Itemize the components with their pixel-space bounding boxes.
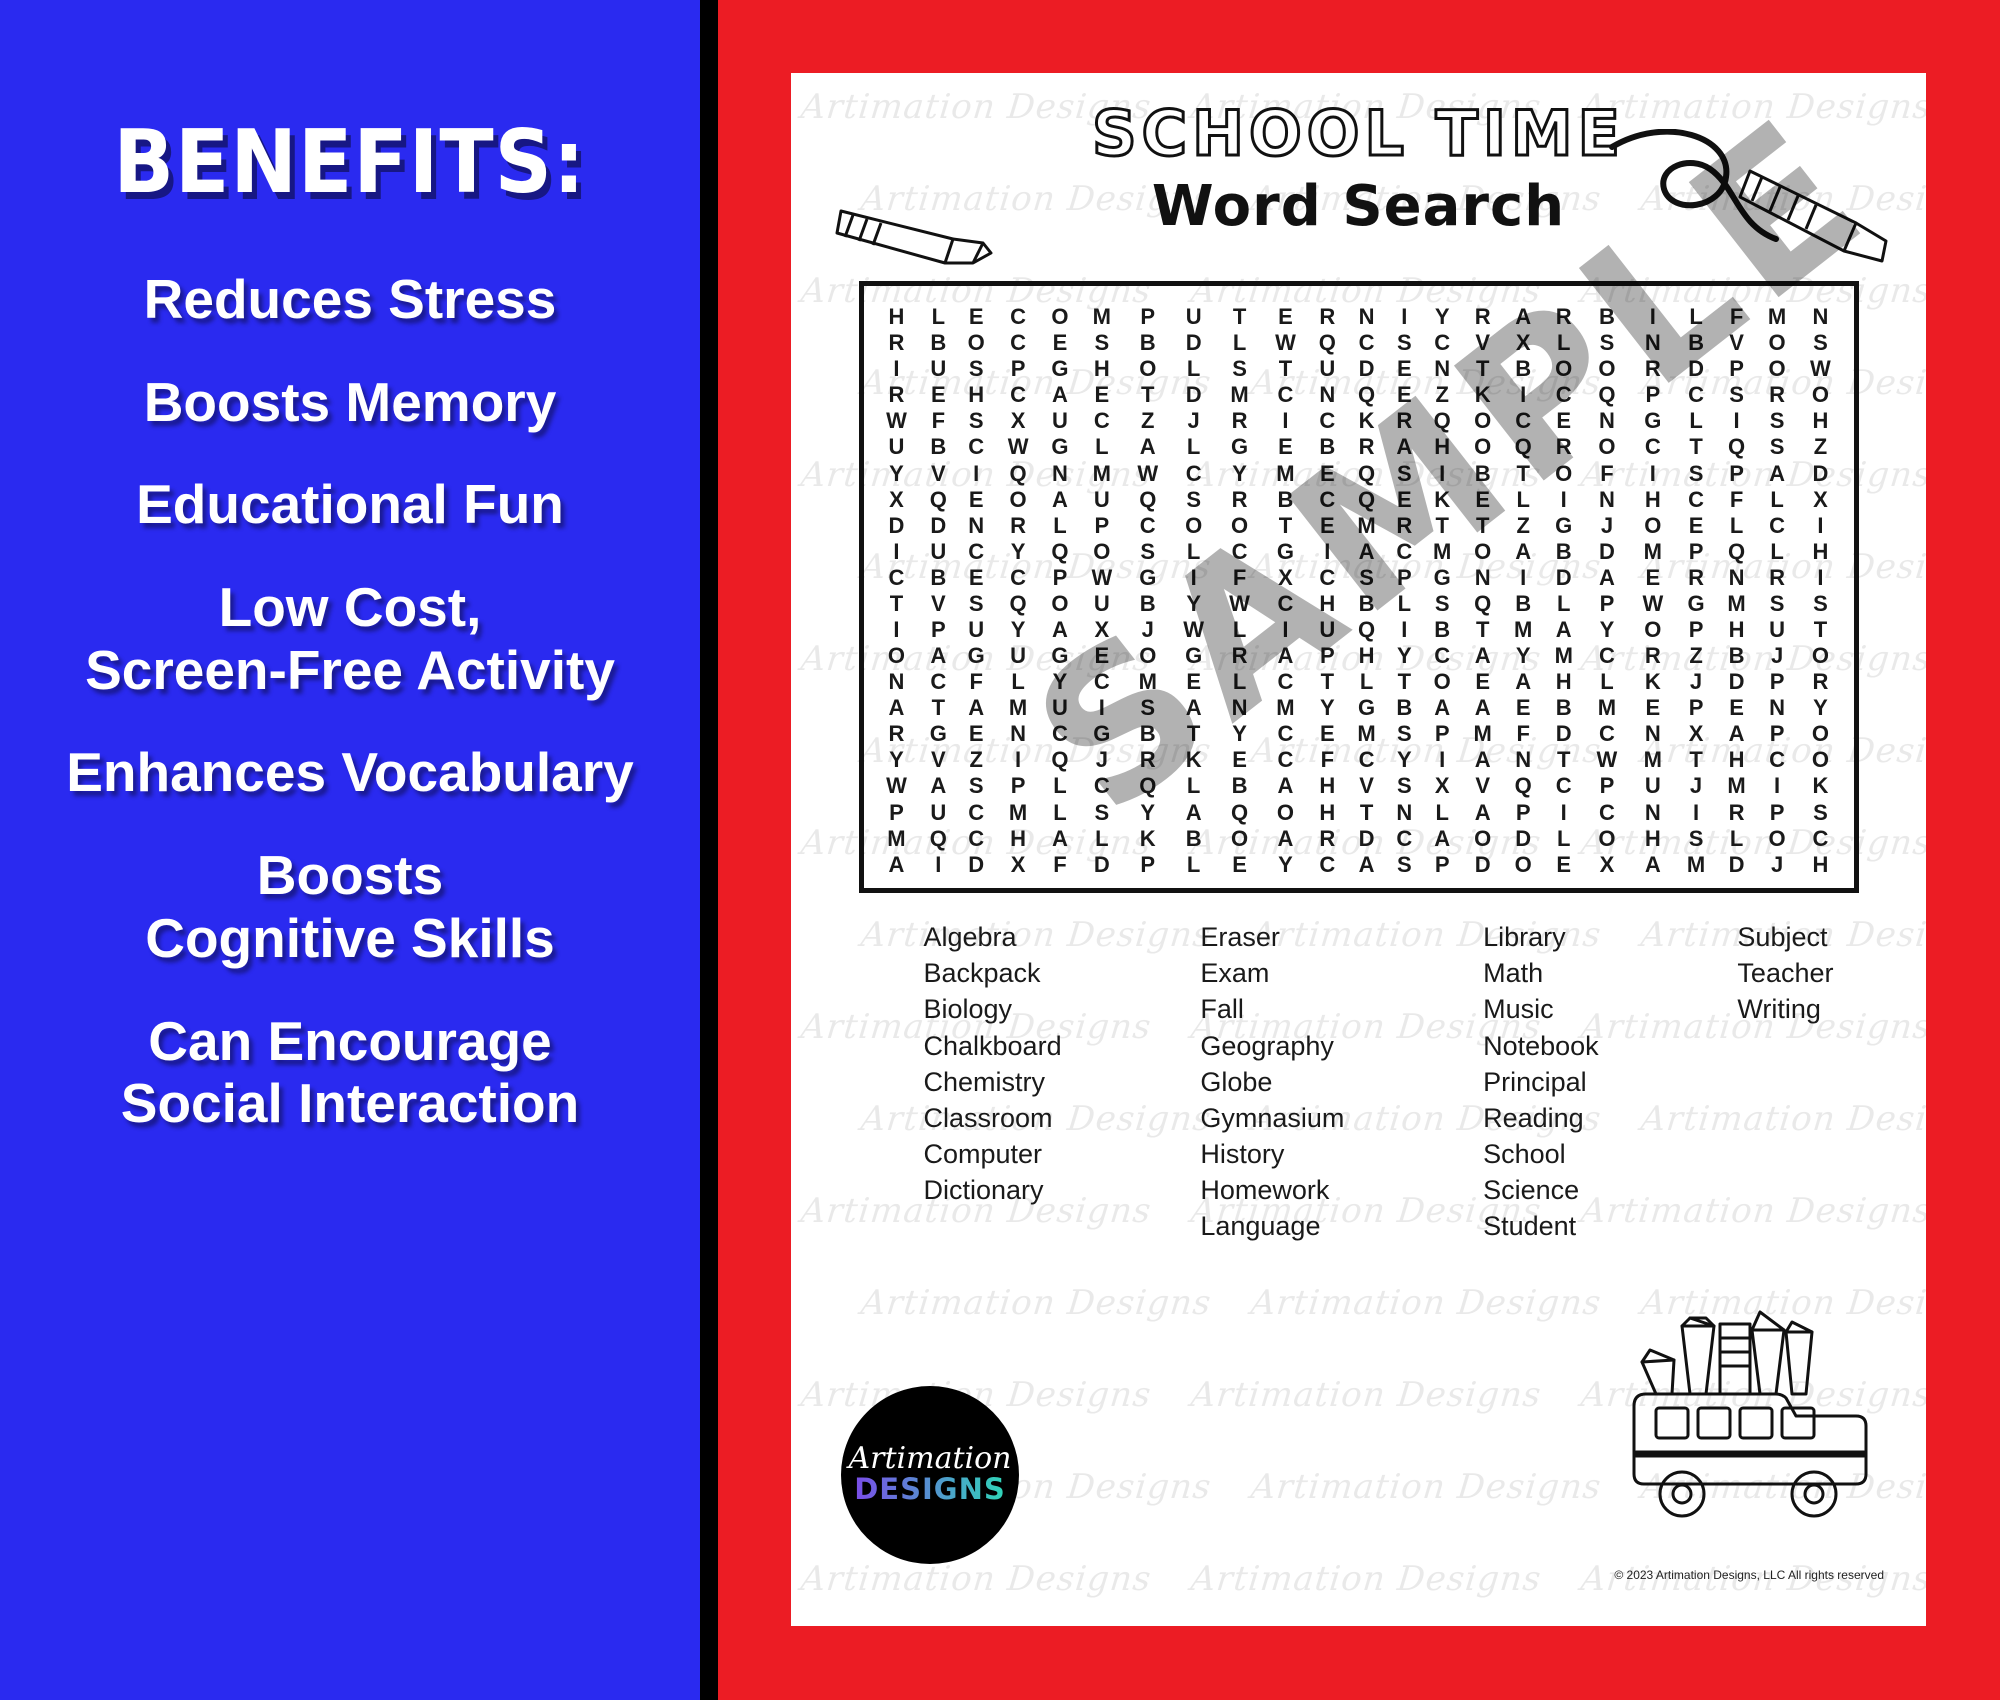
grid-cell: M — [995, 695, 1041, 721]
grid-cell: F — [957, 669, 995, 695]
grid-cell: R — [1217, 408, 1263, 434]
grid-cell: C — [1387, 826, 1422, 852]
grid-cell: M — [1630, 539, 1676, 565]
grid-cell: L — [1676, 304, 1717, 330]
grid-cell: E — [1462, 487, 1503, 513]
word-list-item: Notebook — [1483, 1028, 1599, 1064]
grid-cell: A — [957, 695, 995, 721]
grid-cell: I — [1503, 382, 1544, 408]
grid-cell: W — [1584, 747, 1630, 773]
grid-cell: A — [1041, 826, 1079, 852]
grid-cell: K — [1125, 826, 1171, 852]
grid-cell: E — [1387, 487, 1422, 513]
word-list-item: Eraser — [1200, 919, 1344, 955]
grid-cell: S — [957, 773, 995, 799]
grid-cell: O — [1462, 434, 1503, 460]
word-list-item: Music — [1483, 991, 1599, 1027]
grid-cell: Q — [1346, 382, 1387, 408]
grid-cell: U — [1041, 695, 1079, 721]
grid-cell: P — [1387, 565, 1422, 591]
grid-cell: B — [1543, 695, 1584, 721]
school-bus-icon — [1620, 1298, 1880, 1538]
grid-cell: I — [874, 539, 920, 565]
grid-cell: A — [1503, 669, 1544, 695]
benefit-item: Enhances Vocabulary — [20, 741, 680, 804]
benefit-item: Can EncourageSocial Interaction — [20, 1010, 680, 1135]
word-list-item: Biology — [924, 991, 1062, 1027]
grid-cell: O — [1543, 460, 1584, 486]
grid-cell: E — [1503, 695, 1544, 721]
grid-cell: L — [1041, 799, 1079, 825]
grid-cell: W — [1263, 330, 1309, 356]
grid-cell: F — [1716, 304, 1757, 330]
grid-cell: C — [995, 382, 1041, 408]
grid-cell: U — [1171, 304, 1217, 330]
grid-cell: Q — [919, 487, 957, 513]
grid-cell: E — [957, 721, 995, 747]
grid-cell: S — [1797, 330, 1843, 356]
grid-cell: T — [1543, 747, 1584, 773]
grid-cell: S — [1757, 434, 1798, 460]
grid-cell: L — [1503, 487, 1544, 513]
grid-cell: D — [1462, 852, 1503, 878]
grid-cell: I — [1263, 617, 1309, 643]
grid-cell: J — [1171, 408, 1217, 434]
grid-cell: R — [1543, 304, 1584, 330]
grid-cell: Y — [1387, 643, 1422, 669]
grid-cell: I — [957, 460, 995, 486]
grid-cell: Q — [1346, 460, 1387, 486]
grid-row: PUCMLSYAQOHTNLAPICNIRPS — [874, 799, 1844, 825]
grid-cell: Z — [1422, 382, 1463, 408]
grid-cell: N — [1797, 304, 1843, 330]
grid-cell: M — [1346, 513, 1387, 539]
artimation-logo: Artimation DESIGNS — [841, 1386, 1019, 1564]
grid-cell: O — [1217, 826, 1263, 852]
word-list-item: Exam — [1200, 955, 1344, 991]
grid-cell: U — [995, 643, 1041, 669]
grid-cell: Q — [1584, 382, 1630, 408]
grid-cell: T — [1346, 799, 1387, 825]
grid-cell: S — [1387, 460, 1422, 486]
grid-cell: S — [1387, 852, 1422, 878]
grid-cell: O — [1797, 721, 1843, 747]
grid-cell: E — [1217, 852, 1263, 878]
word-list-item: Chemistry — [924, 1064, 1062, 1100]
grid-cell: Y — [995, 617, 1041, 643]
grid-cell: M — [1217, 382, 1263, 408]
grid-cell: G — [1125, 565, 1171, 591]
grid-cell: I — [1543, 799, 1584, 825]
grid-cell: A — [874, 852, 920, 878]
grid-cell: O — [1422, 669, 1463, 695]
grid-cell: D — [1716, 669, 1757, 695]
grid-cell: Y — [1041, 669, 1079, 695]
grid-row: MQCHALKBOARDCAODLOHSLOC — [874, 826, 1844, 852]
grid-cell: E — [1387, 382, 1422, 408]
grid-cell: C — [919, 669, 957, 695]
grid-cell: L — [1041, 773, 1079, 799]
grid-cell: S — [957, 591, 995, 617]
grid-cell: H — [1079, 356, 1125, 382]
grid-cell: C — [1676, 382, 1717, 408]
grid-cell: P — [1584, 773, 1630, 799]
grid-cell: P — [1676, 695, 1717, 721]
grid-cell: S — [1422, 591, 1463, 617]
grid-cell: C — [1584, 799, 1630, 825]
grid-cell: N — [1422, 356, 1463, 382]
grid-cell: D — [1543, 721, 1584, 747]
grid-cell: A — [1503, 539, 1544, 565]
grid-cell: M — [1676, 852, 1717, 878]
grid-cell: O — [874, 643, 920, 669]
grid-cell: V — [919, 747, 957, 773]
grid-row: IUCYQOSLCGIACMOABDMPQLH — [874, 539, 1844, 565]
grid-cell: J — [1125, 617, 1171, 643]
grid-cell: K — [1462, 382, 1503, 408]
grid-cell: G — [1041, 643, 1079, 669]
grid-cell: R — [1308, 826, 1346, 852]
grid-cell: S — [1584, 330, 1630, 356]
grid-cell: C — [1422, 643, 1463, 669]
grid-row: RGENCGBTYCEMSPMFDCNXAPO — [874, 721, 1844, 747]
grid-cell: A — [1263, 826, 1309, 852]
grid-cell: T — [1462, 356, 1503, 382]
grid-cell: B — [1125, 721, 1171, 747]
grid-cell: R — [1543, 434, 1584, 460]
grid-cell: V — [919, 460, 957, 486]
grid-cell: S — [1716, 382, 1757, 408]
grid-cell: D — [1346, 826, 1387, 852]
grid-cell: D — [1716, 852, 1757, 878]
watermark-text: Artimation Designs — [1189, 1559, 1544, 1599]
grid-cell: A — [1263, 773, 1309, 799]
logo-line2: DESIGNS — [854, 1474, 1006, 1506]
grid-cell: O — [1757, 826, 1798, 852]
grid-cell: C — [1041, 721, 1079, 747]
grid-cell: L — [995, 669, 1041, 695]
grid-cell: M — [1263, 695, 1309, 721]
word-list-item: Classroom — [924, 1100, 1062, 1136]
grid-cell: H — [995, 826, 1041, 852]
grid-cell: C — [1263, 382, 1309, 408]
word-list-item: History — [1200, 1136, 1344, 1172]
grid-cell: G — [1079, 721, 1125, 747]
grid-cell: X — [1422, 773, 1463, 799]
grid-cell: O — [1462, 408, 1503, 434]
grid-cell: Q — [1422, 408, 1463, 434]
grid-cell: R — [1217, 487, 1263, 513]
grid-cell: I — [1757, 773, 1798, 799]
grid-cell: R — [1757, 382, 1798, 408]
grid-cell: Q — [1217, 799, 1263, 825]
grid-cell: B — [1543, 539, 1584, 565]
grid-cell: C — [1125, 513, 1171, 539]
word-list-item: Teacher — [1737, 955, 1833, 991]
grid-cell: M — [995, 799, 1041, 825]
grid-cell: A — [1462, 747, 1503, 773]
word-list-item: Subject — [1737, 919, 1833, 955]
word-list-item: Dictionary — [924, 1172, 1062, 1208]
grid-cell: H — [1797, 539, 1843, 565]
grid-cell: G — [1041, 434, 1079, 460]
grid-row: IPUYAXJWLIUQIBTMAYOPHUT — [874, 617, 1844, 643]
grid-cell: N — [1630, 330, 1676, 356]
grid-cell: S — [1079, 330, 1125, 356]
grid-cell: O — [1584, 434, 1630, 460]
grid-cell: B — [1308, 434, 1346, 460]
grid-cell: N — [1630, 799, 1676, 825]
grid-cell: E — [1543, 408, 1584, 434]
grid-cell: C — [1263, 591, 1309, 617]
grid-cell: T — [1125, 382, 1171, 408]
grid-cell: G — [1217, 434, 1263, 460]
grid-cell: L — [1543, 591, 1584, 617]
grid-cell: B — [1263, 487, 1309, 513]
poster-root: BENEFITS: Reduces Stress Boosts Memory E… — [0, 0, 2000, 1700]
grid-cell: N — [1346, 304, 1387, 330]
grid-cell: R — [874, 382, 920, 408]
grid-row: RBOCESBDLWQCSCVXLSNBVOS — [874, 330, 1844, 356]
grid-cell: T — [1797, 617, 1843, 643]
grid-cell: R — [1387, 513, 1422, 539]
grid-cell: T — [1263, 513, 1309, 539]
grid-cell: M — [1079, 460, 1125, 486]
grid-cell: E — [1171, 669, 1217, 695]
grid-cell: C — [1217, 539, 1263, 565]
grid-cell: C — [1543, 773, 1584, 799]
grid-cell: N — [1584, 487, 1630, 513]
grid-cell: A — [1171, 799, 1217, 825]
grid-cell: Y — [1422, 304, 1463, 330]
grid-cell: N — [1462, 565, 1503, 591]
word-list-item: School — [1483, 1136, 1599, 1172]
grid-cell: U — [1079, 487, 1125, 513]
word-list-item: Globe — [1200, 1064, 1344, 1100]
word-list-item: Backpack — [924, 955, 1062, 991]
grid-cell: B — [1125, 591, 1171, 617]
word-list-column: SubjectTeacherWriting — [1737, 919, 1833, 1245]
grid-cell: M — [1543, 643, 1584, 669]
grid-cell: L — [1757, 539, 1798, 565]
grid-cell: I — [1543, 487, 1584, 513]
grid-cell: N — [1217, 695, 1263, 721]
grid-cell: T — [1308, 669, 1346, 695]
word-list-column: LibraryMathMusicNotebookPrincipalReading… — [1483, 919, 1599, 1245]
grid-cell: H — [1346, 643, 1387, 669]
grid-cell: M — [1584, 695, 1630, 721]
grid-cell: S — [1387, 773, 1422, 799]
grid-cell: C — [1308, 852, 1346, 878]
grid-cell: L — [1387, 591, 1422, 617]
grid-cell: T — [1503, 460, 1544, 486]
grid-cell: A — [1041, 382, 1079, 408]
grid-cell: C — [957, 539, 995, 565]
word-list-item: Homework — [1200, 1172, 1344, 1208]
grid-cell: A — [919, 643, 957, 669]
grid-cell: D — [919, 513, 957, 539]
grid-cell: Q — [1716, 434, 1757, 460]
grid-cell: R — [1716, 799, 1757, 825]
grid-cell: X — [874, 487, 920, 513]
grid-cell: M — [1716, 591, 1757, 617]
grid-cell: L — [1217, 330, 1263, 356]
grid-cell: F — [1584, 460, 1630, 486]
grid-cell: Q — [1041, 539, 1079, 565]
grid-cell: G — [1422, 565, 1463, 591]
grid-cell: P — [1676, 539, 1717, 565]
grid-cell: U — [1308, 356, 1346, 382]
grid-cell: P — [1079, 513, 1125, 539]
grid-cell: E — [957, 487, 995, 513]
grid-cell: P — [1422, 721, 1463, 747]
grid-cell: A — [1757, 460, 1798, 486]
grid-cell: J — [1757, 852, 1798, 878]
grid-cell: Q — [995, 591, 1041, 617]
grid-cell: A — [1041, 487, 1079, 513]
grid-cell: Y — [1171, 591, 1217, 617]
grid-cell: G — [957, 643, 995, 669]
grid-cell: M — [1503, 617, 1544, 643]
grid-cell: C — [874, 565, 920, 591]
grid-cell: N — [1630, 721, 1676, 747]
grid-cell: O — [1757, 356, 1798, 382]
grid-cell: A — [1462, 695, 1503, 721]
grid-cell: L — [1716, 826, 1757, 852]
grid-cell: M — [1462, 721, 1503, 747]
grid-cell: H — [1308, 773, 1346, 799]
grid-cell: L — [1676, 408, 1717, 434]
grid-row: WFSXUCZJRICKRQOCENGLISH — [874, 408, 1844, 434]
grid-cell: R — [995, 513, 1041, 539]
grid-cell: S — [1125, 539, 1171, 565]
red-panel: Artimation DesignsArtimation DesignsArti… — [718, 0, 2000, 1700]
grid-row: NCFLYCMELCTLTOEAHLKJDPR — [874, 669, 1844, 695]
grid-cell: N — [1584, 408, 1630, 434]
grid-cell: I — [1387, 304, 1422, 330]
grid-cell: P — [1716, 460, 1757, 486]
word-list-item: Student — [1483, 1208, 1599, 1244]
grid-cell: C — [1630, 434, 1676, 460]
grid-cell: R — [1462, 304, 1503, 330]
grid-cell: Q — [1125, 487, 1171, 513]
grid-row: WASPLCQLBAHVSXVQCPUJMIK — [874, 773, 1844, 799]
benefit-item: Boosts Memory — [20, 371, 680, 434]
grid-cell: E — [1543, 852, 1584, 878]
grid-row: REHCAETDMCNQEZKICQPCSRO — [874, 382, 1844, 408]
pencil-icon — [833, 191, 1003, 281]
grid-cell: A — [1462, 643, 1503, 669]
grid-cell: D — [1503, 826, 1544, 852]
grid-cell: O — [1797, 382, 1843, 408]
grid-cell: R — [1757, 565, 1798, 591]
grid-cell: C — [957, 434, 995, 460]
grid-cell: F — [1217, 565, 1263, 591]
grid-cell: Q — [1716, 539, 1757, 565]
grid-cell: U — [1079, 591, 1125, 617]
benefit-item: Reduces Stress — [20, 268, 680, 331]
watermark-text: Artimation Designs — [1249, 1467, 1604, 1507]
grid-cell: T — [1387, 669, 1422, 695]
grid-cell: T — [919, 695, 957, 721]
grid-cell: M — [1757, 304, 1798, 330]
grid-cell: I — [1503, 565, 1544, 591]
grid-cell: Q — [919, 826, 957, 852]
grid-cell: V — [1462, 330, 1503, 356]
grid-cell: W — [874, 408, 920, 434]
grid-cell: S — [1676, 826, 1717, 852]
grid-cell: E — [1308, 513, 1346, 539]
grid-cell: K — [1797, 773, 1843, 799]
grid-cell: P — [1125, 304, 1171, 330]
grid-cell: E — [1079, 382, 1125, 408]
grid-row: YVIQNMWCYMEQSIBTOFISPAD — [874, 460, 1844, 486]
grid-cell: P — [919, 617, 957, 643]
grid-cell: J — [1676, 773, 1717, 799]
grid-cell: B — [1422, 617, 1463, 643]
word-list-column: AlgebraBackpackBiologyChalkboardChemistr… — [924, 919, 1062, 1245]
grid-cell: S — [1079, 799, 1125, 825]
grid-cell: E — [1462, 669, 1503, 695]
grid-cell: T — [1462, 617, 1503, 643]
grid-cell: H — [1797, 408, 1843, 434]
grid-cell: S — [1171, 487, 1217, 513]
grid-cell: D — [1171, 382, 1217, 408]
grid-cell: A — [1716, 721, 1757, 747]
grid-cell: A — [1462, 799, 1503, 825]
grid-cell: O — [1041, 304, 1079, 330]
grid-cell: E — [1630, 695, 1676, 721]
grid-cell: P — [1716, 356, 1757, 382]
grid-cell: O — [1125, 356, 1171, 382]
grid-cell: C — [1346, 330, 1387, 356]
grid-cell: M — [1263, 460, 1309, 486]
grid-cell: O — [1462, 826, 1503, 852]
grid-cell: K — [1346, 408, 1387, 434]
grid-cell: M — [1346, 721, 1387, 747]
benefits-heading: BENEFITS: — [114, 113, 586, 214]
grid-cell: B — [1584, 304, 1630, 330]
benefit-item: Low Cost,Screen-Free Activity — [20, 576, 680, 701]
grid-cell: S — [1125, 695, 1171, 721]
grid-cell: B — [1716, 643, 1757, 669]
grid-cell: N — [1308, 382, 1346, 408]
grid-cell: C — [1263, 669, 1309, 695]
grid-row: XQEOAUQSRBCQEKELINHCFLX — [874, 487, 1844, 513]
grid-cell: Y — [1263, 852, 1309, 878]
grid-cell: I — [1797, 565, 1843, 591]
grid-cell: S — [957, 356, 995, 382]
grid-row: YVZIQJRKECFCYIANTWMTHCO — [874, 747, 1844, 773]
grid-cell: F — [1308, 747, 1346, 773]
grid-cell: S — [1797, 799, 1843, 825]
grid-cell: Q — [1346, 617, 1387, 643]
grid-cell: K — [1171, 747, 1217, 773]
grid-cell: C — [995, 304, 1041, 330]
word-list-item: Reading — [1483, 1100, 1599, 1136]
grid-cell: U — [919, 799, 957, 825]
grid-cell: O — [1041, 591, 1079, 617]
grid-cell: C — [1263, 747, 1309, 773]
grid-cell: O — [995, 487, 1041, 513]
grid-cell: C — [1422, 330, 1463, 356]
grid-cell: A — [1422, 695, 1463, 721]
grid-cell: V — [1462, 773, 1503, 799]
grid-cell: Y — [1503, 643, 1544, 669]
grid-cell: C — [1079, 408, 1125, 434]
grid-cell: E — [1041, 330, 1079, 356]
grid-cell: W — [1797, 356, 1843, 382]
